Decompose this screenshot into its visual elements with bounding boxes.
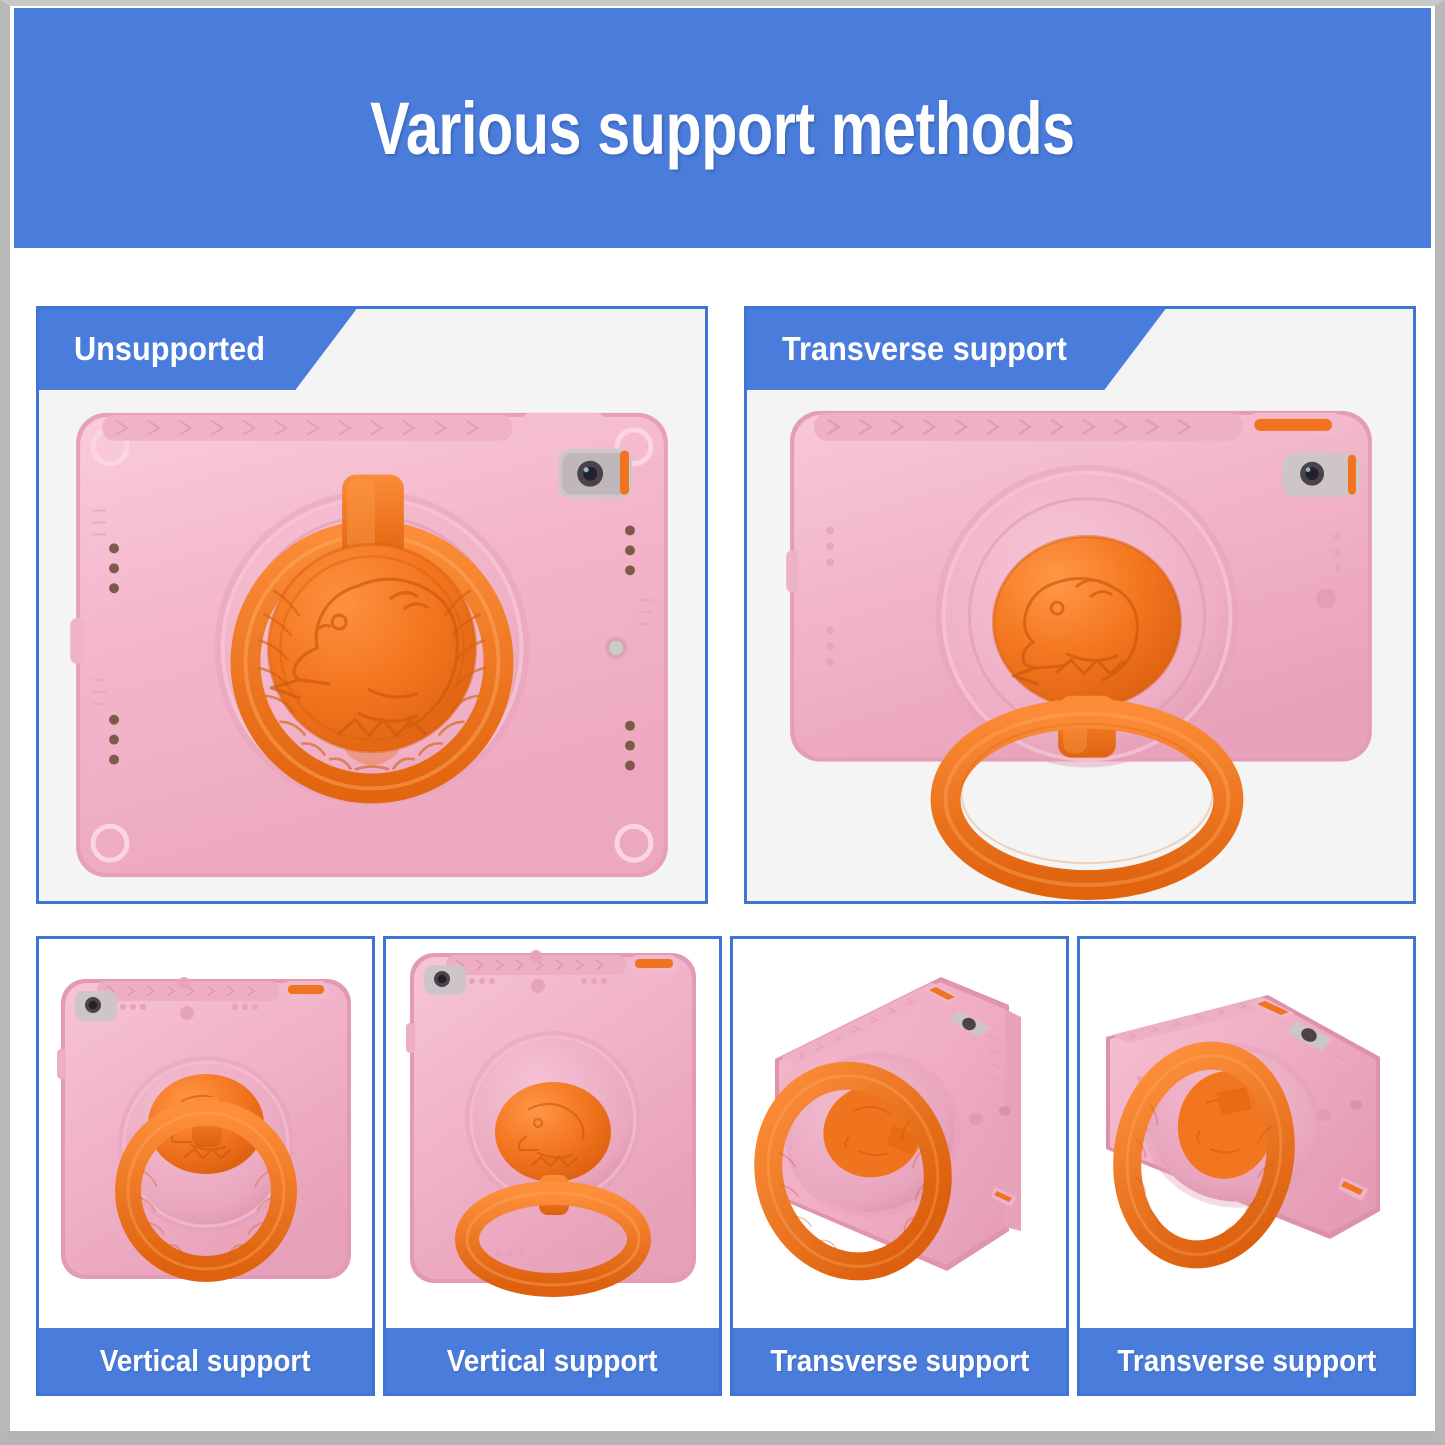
- top-panel-row: Unsupported: [36, 306, 1416, 904]
- orange-emblem-disc: [993, 536, 1180, 707]
- page-inner: Various support methods Unsupported: [10, 6, 1435, 1431]
- panel-tab-transverse: Transverse support: [746, 308, 1166, 390]
- panel-vertical-support-1: Vertical support: [36, 936, 375, 1396]
- panel-caption: Transverse support: [1079, 1328, 1414, 1394]
- product-image-page: Various support methods Unsupported: [0, 0, 1445, 1445]
- panel-transverse-support-1: Transverse support: [730, 936, 1069, 1396]
- panel-caption: Vertical support: [385, 1328, 720, 1394]
- panel-vertical-support-2: Vertical support: [383, 936, 722, 1396]
- panel-photo-unsupported: [39, 391, 705, 901]
- bottom-panel-row: Vertical support: [36, 936, 1416, 1396]
- panel-tab-label: Transverse support: [782, 330, 1067, 368]
- tablet-portrait-ring-centered-illustration: [39, 939, 372, 1332]
- panel-caption-label: Vertical support: [100, 1343, 311, 1379]
- panel-photo-vertical-2: [386, 939, 719, 1332]
- orange-emblem-disc: [495, 1082, 611, 1182]
- tablet-flat-back-illustration: [39, 391, 705, 901]
- tablet-angled-right-illustration: [1080, 939, 1413, 1332]
- panel-photo-transverse-1: [733, 939, 1066, 1332]
- panel-photo-transverse: [747, 391, 1413, 901]
- tablet-kickstand-illustration: [747, 391, 1413, 901]
- panel-transverse-support-large: Transverse support: [744, 306, 1416, 904]
- panel-caption: Transverse support: [732, 1328, 1067, 1394]
- header-banner: Various support methods: [14, 8, 1431, 248]
- panel-photo-vertical-1: [39, 939, 372, 1332]
- panel-tab-label: Unsupported: [74, 330, 265, 368]
- panel-tab-unsupported: Unsupported: [38, 308, 357, 390]
- page-title: Various support methods: [370, 86, 1075, 171]
- panel-caption-label: Vertical support: [447, 1343, 658, 1379]
- panel-caption-label: Transverse support: [770, 1343, 1029, 1379]
- panel-caption-label: Transverse support: [1117, 1343, 1376, 1379]
- panel-transverse-support-2: Transverse support: [1077, 936, 1416, 1396]
- panel-caption: Vertical support: [38, 1328, 373, 1394]
- tablet-angled-left-illustration: [733, 939, 1066, 1332]
- panel-unsupported: Unsupported: [36, 306, 708, 904]
- panel-photo-transverse-2: [1080, 939, 1413, 1332]
- tablet-portrait-ring-down-illustration: [386, 939, 719, 1332]
